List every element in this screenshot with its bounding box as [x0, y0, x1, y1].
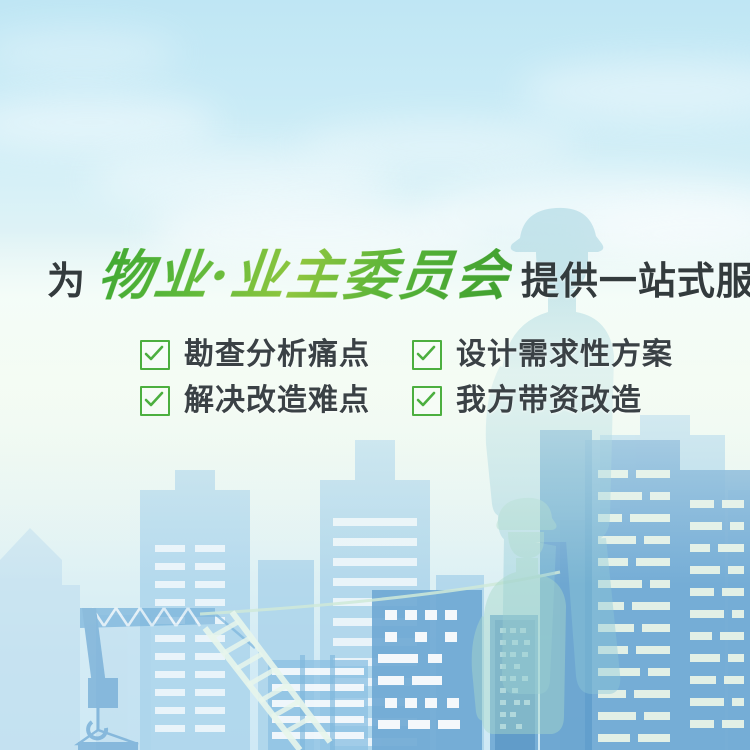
feature-item: 我方带资改造 — [412, 386, 684, 416]
feature-item: 勘查分析痛点 — [140, 340, 412, 370]
headline-suffix: 提供一站式服务 — [521, 263, 750, 304]
checkbox-checked-icon — [412, 386, 442, 416]
feature-item: 设计需求性方案 — [412, 340, 684, 370]
promo-banner: 为 物业·业主委员会 提供一站式服务 勘查分析痛点 设计需求性方案 — [0, 0, 750, 750]
feature-list: 勘查分析痛点 设计需求性方案 解决改造难点 — [140, 340, 684, 416]
feature-label: 设计需求性方案 — [456, 340, 673, 370]
feature-label: 解决改造难点 — [184, 386, 370, 416]
feature-item: 解决改造难点 — [140, 386, 412, 416]
checkbox-checked-icon — [412, 340, 442, 370]
headline-prefix: 为 — [47, 263, 86, 304]
checkbox-checked-icon — [140, 340, 170, 370]
feature-label: 勘查分析痛点 — [184, 340, 370, 370]
headline-highlight: 物业·业主委员会 — [95, 248, 514, 304]
feature-label: 我方带资改造 — [456, 386, 642, 416]
headline: 为 物业·业主委员会 提供一站式服务 — [47, 248, 750, 304]
checkbox-checked-icon — [140, 386, 170, 416]
